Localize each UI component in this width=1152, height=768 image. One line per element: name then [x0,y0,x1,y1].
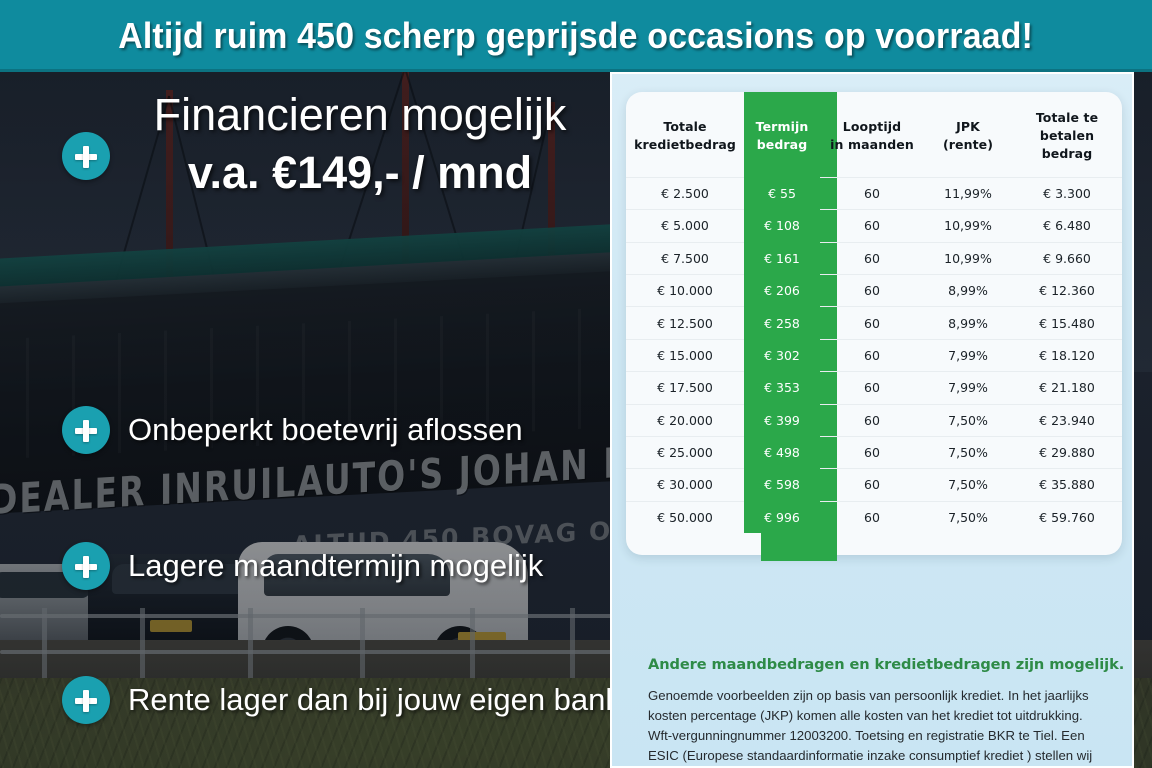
cell-termijn: € 498 [744,436,820,468]
cell-termijn: € 161 [744,242,820,274]
cell-looptijd: 60 [820,436,924,468]
cell-totaal: € 15.480 [1012,307,1122,339]
benefit-item-financing [62,132,110,180]
table-row: € 50.000€ 996607,50%€ 59.760 [626,501,1122,533]
cell-totaal: € 6.480 [1012,210,1122,242]
cell-totaal: € 21.180 [1012,372,1122,404]
rates-table-body: € 2.500€ 556011,99%€ 3.300€ 5.000€ 10860… [626,177,1122,533]
table-row: € 20.000€ 399607,50%€ 23.940 [626,404,1122,436]
cell-looptijd: 60 [820,404,924,436]
financing-headline-line1: Financieren mogelijk [120,92,600,138]
cell-totaal: € 35.880 [1012,469,1122,501]
header-termijn-bedrag: Termijn bedrag [744,93,820,178]
table-row: € 2.500€ 556011,99%€ 3.300 [626,177,1122,209]
header-totale-te-betalen: Totale te betalen bedrag [1012,93,1122,178]
headline-text: Altijd ruim 450 scherp geprijsde occasio… [119,15,1034,57]
table-row: € 25.000€ 498607,50%€ 29.880 [626,436,1122,468]
header-line1: Totale te [1014,109,1120,127]
cell-krediet: € 50.000 [626,501,744,533]
header-line2: kredietbedrag [628,136,742,154]
header-jpk: JPK (rente) [924,93,1012,178]
cell-termijn: € 258 [744,307,820,339]
cell-looptijd: 60 [820,307,924,339]
table-row: € 7.500€ 1616010,99%€ 9.660 [626,242,1122,274]
cell-looptijd: 60 [820,177,924,209]
cell-jpk: 11,99% [924,177,1012,209]
header-line2: betalen bedrag [1014,127,1120,163]
benefit-item-rente: Rente lager dan bij jouw eigen bank [62,676,621,724]
benefits-list: Financieren mogelijk v.a. €149,- / mnd O… [0,72,612,768]
cell-totaal: € 9.660 [1012,242,1122,274]
financing-headline-line2: v.a. €149,- / mnd [120,150,600,196]
cell-looptijd: 60 [820,275,924,307]
cell-krediet: € 17.500 [626,372,744,404]
cell-totaal: € 23.940 [1012,404,1122,436]
note-title: Andere maandbedragen en kredietbedragen … [648,656,1124,673]
table-row: € 5.000€ 1086010,99%€ 6.480 [626,210,1122,242]
cell-termijn: € 353 [744,372,820,404]
cell-termijn: € 302 [744,339,820,371]
header-line2: in maanden [822,136,922,154]
benefit-label: Rente lager dan bij jouw eigen bank [128,682,621,718]
cell-termijn: € 206 [744,275,820,307]
cell-jpk: 7,50% [924,436,1012,468]
table-row: € 17.500€ 353607,99%€ 21.180 [626,372,1122,404]
note-body: Genoemde voorbeelden zijn op basis van p… [648,686,1108,768]
cell-looptijd: 60 [820,210,924,242]
credit-info-panel: Totale kredietbedrag Termijn bedrag Loop… [610,72,1134,768]
benefit-item-aflossen: Onbeperkt boetevrij aflossen [62,406,523,454]
cell-looptijd: 60 [820,469,924,501]
cell-krediet: € 20.000 [626,404,744,436]
header-totale-kredietbedrag: Totale kredietbedrag [626,93,744,178]
benefit-label: Lagere maandtermijn mogelijk [128,548,543,584]
table-header-row: Totale kredietbedrag Termijn bedrag Loop… [626,93,1122,178]
table-row: € 10.000€ 206608,99%€ 12.360 [626,275,1122,307]
rates-table: Totale kredietbedrag Termijn bedrag Loop… [626,92,1122,533]
plus-icon [62,542,110,590]
cell-krediet: € 15.000 [626,339,744,371]
cell-totaal: € 12.360 [1012,275,1122,307]
cell-jpk: 8,99% [924,307,1012,339]
benefit-item-maandtermijn: Lagere maandtermijn mogelijk [62,542,543,590]
cell-krediet: € 7.500 [626,242,744,274]
table-row: € 30.000€ 598607,50%€ 35.880 [626,469,1122,501]
header-line2: bedrag [746,136,818,154]
header-line1: Termijn [746,118,818,136]
cell-jpk: 7,50% [924,469,1012,501]
headline-banner: Altijd ruim 450 scherp geprijsde occasio… [0,0,1152,72]
cell-looptijd: 60 [820,501,924,533]
plus-icon [62,132,110,180]
cell-termijn: € 55 [744,177,820,209]
header-line1: JPK [926,118,1010,136]
rates-table-card: Totale kredietbedrag Termijn bedrag Loop… [626,92,1122,555]
cell-totaal: € 3.300 [1012,177,1122,209]
financing-headline: Financieren mogelijk v.a. €149,- / mnd [120,92,600,196]
cell-jpk: 10,99% [924,210,1012,242]
cell-krediet: € 30.000 [626,469,744,501]
cell-jpk: 7,99% [924,339,1012,371]
cell-totaal: € 59.760 [1012,501,1122,533]
cell-totaal: € 29.880 [1012,436,1122,468]
plus-icon [62,676,110,724]
header-line1: Looptijd [822,118,922,136]
header-line2: (rente) [926,136,1010,154]
cell-krediet: € 12.500 [626,307,744,339]
cell-krediet: € 2.500 [626,177,744,209]
cell-jpk: 10,99% [924,242,1012,274]
header-looptijd: Looptijd in maanden [820,93,924,178]
benefit-label: Onbeperkt boetevrij aflossen [128,412,523,448]
table-row: € 15.000€ 302607,99%€ 18.120 [626,339,1122,371]
cell-krediet: € 25.000 [626,436,744,468]
cell-jpk: 7,99% [924,372,1012,404]
cell-jpk: 7,50% [924,404,1012,436]
cell-totaal: € 18.120 [1012,339,1122,371]
cell-looptijd: 60 [820,339,924,371]
cell-looptijd: 60 [820,372,924,404]
table-row: € 12.500€ 258608,99%€ 15.480 [626,307,1122,339]
cell-krediet: € 5.000 [626,210,744,242]
cell-termijn: € 598 [744,469,820,501]
cell-termijn: € 108 [744,210,820,242]
header-line1: Totale [628,118,742,136]
advertisement-banner: DEALER INRUILAUTO'S JOHAN MEURE ALTIJD 4… [0,0,1152,768]
cell-jpk: 8,99% [924,275,1012,307]
cell-krediet: € 10.000 [626,275,744,307]
cell-looptijd: 60 [820,242,924,274]
cell-jpk: 7,50% [924,501,1012,533]
plus-icon [62,406,110,454]
cell-termijn: € 996 [744,501,820,533]
cell-termijn: € 399 [744,404,820,436]
